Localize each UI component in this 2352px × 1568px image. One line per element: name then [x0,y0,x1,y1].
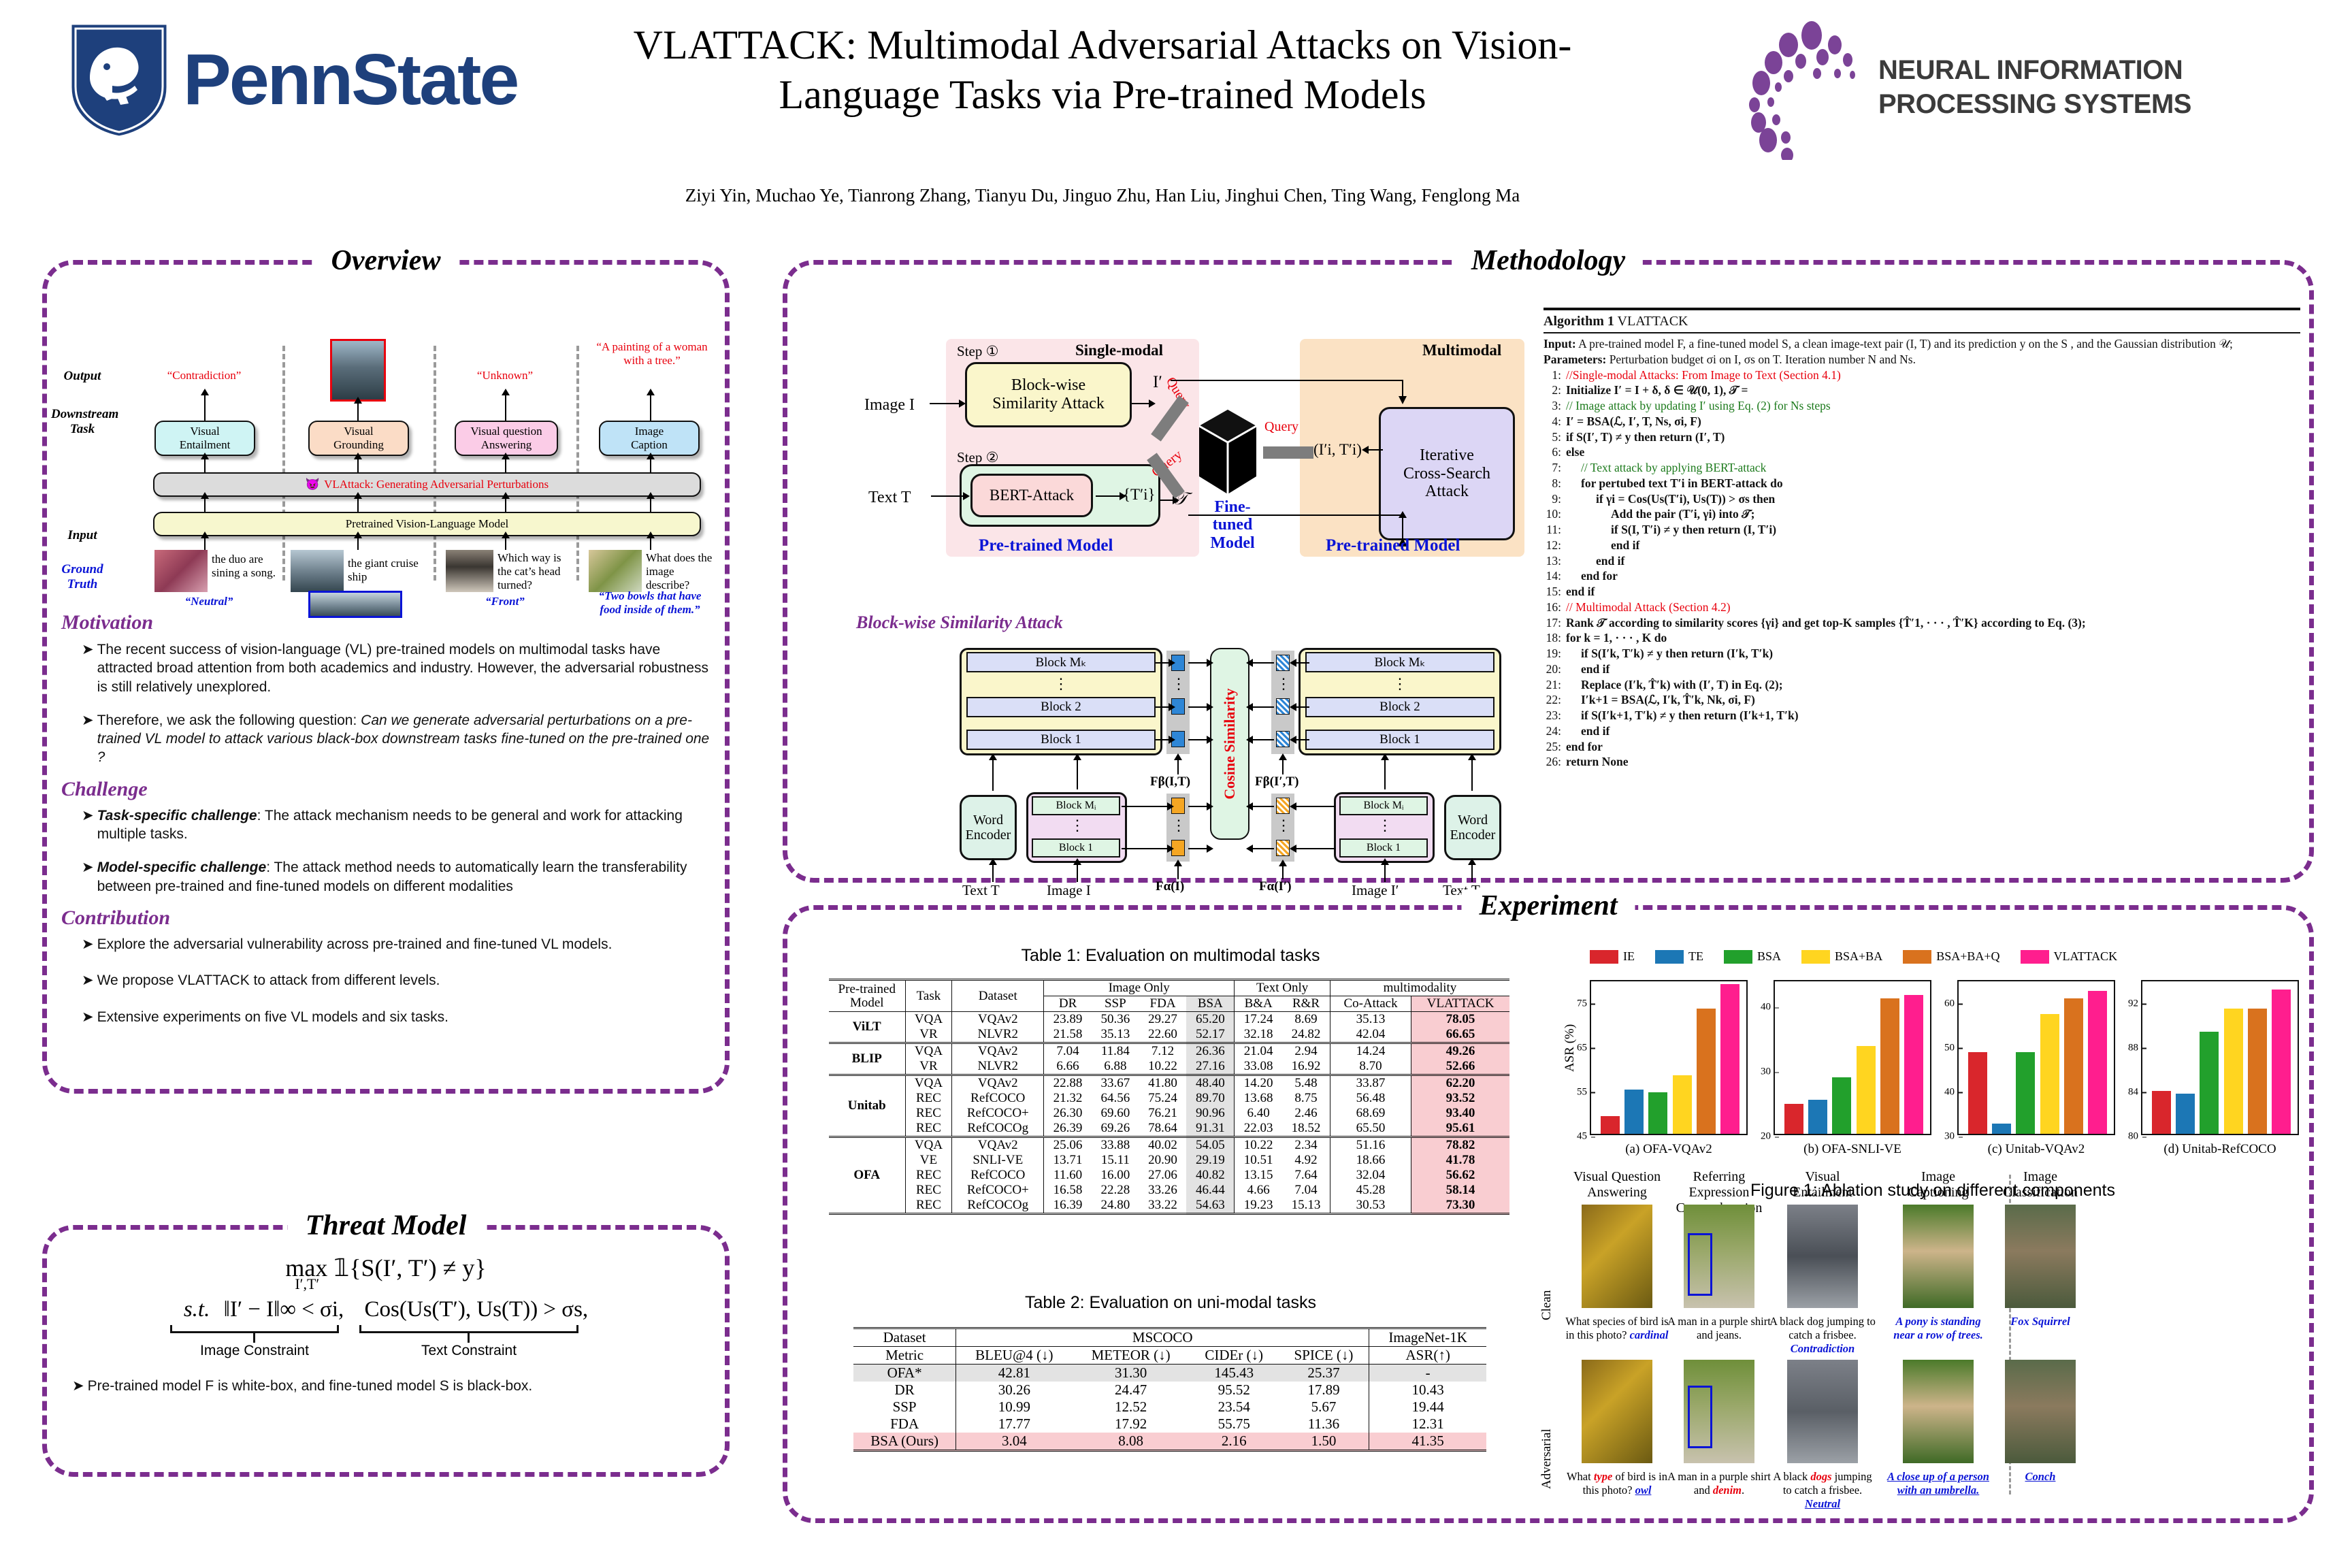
chart-y-tick: 30 [1944,1131,1959,1143]
algorithm-line-text: Initialize I′ = I + δ, δ ∈ 𝒰(0, 1), 𝒯 = [1566,382,1748,398]
vertical-dots: ⋮ [1276,822,1290,829]
bsa-block-mk-right: Block Mₖ [1305,652,1494,672]
table-cell-vlattack: 93.52 [1411,1091,1509,1106]
column-group-header: MSCOCO [956,1328,1369,1347]
overview-arrow [357,498,359,512]
overview-arrow [204,395,206,421]
bsa-arrow [1188,848,1207,849]
bsa-block-mk-left: Block Mₖ [966,652,1156,672]
contribution-heading: Contribution [61,906,715,930]
multimodal-label: Multimodal [1422,342,1501,359]
table-cell-ssp: 15.11 [1092,1153,1139,1168]
table-cell-dr: 26.30 [1044,1106,1092,1121]
table-cell-task: VR [905,1027,952,1043]
chart-bar [1992,1124,2011,1134]
algorithm-line: 5:if S(I′, T) ≠ y then return (I′, T) [1543,429,2300,445]
example-caption-highlight: A pony is standing near a row of trees. [1893,1315,1983,1341]
vertical-dots: ⋮ [1377,822,1391,829]
table-cell-method: SSP [853,1399,956,1416]
table-row: VESNLI-VE13.7115.1120.9029.1910.514.9218… [829,1153,1509,1168]
example-caption-adversarial: A close up of a person with an umbrella. [1885,1470,1991,1497]
table-cell-rr: 2.46 [1282,1106,1330,1121]
word-encoder-right: WordEncoder [1444,795,1501,860]
example-column-heading: ImageCaptioning [1891,1169,1986,1200]
algorithm-line-number: 21: [1543,677,1561,693]
bsa-arrow [1471,759,1473,791]
table-cell-coattack: 56.48 [1330,1091,1411,1106]
table-cell-coattack: 35.13 [1330,1012,1411,1028]
column-header: Co-Attack [1330,996,1411,1012]
column-header: BLEU@4 (↓) [956,1347,1073,1365]
table-cell-task: REC [905,1198,952,1214]
algorithm-line-text: Replace (I′k, T̂′k) with (I′, T) in Eq. … [1566,677,1783,693]
table-row: DatasetMSCOCOImageNet-1K [853,1328,1486,1347]
table-cell-dataset: RefCOCO [952,1091,1044,1106]
table-row: RECRefCOCO11.6016.0027.0640.8213.157.643… [829,1168,1509,1183]
bsa-arrow [992,864,994,882]
chart-bar [1720,984,1739,1134]
bounding-box-adversarial [1688,1386,1712,1448]
table-row [853,1451,1486,1454]
vertical-dots: ⋮ [1171,822,1185,829]
bar-chart: 203040 [1774,980,1931,1135]
example-caption-adversarial: Conch [1987,1470,2093,1484]
bsa-block-1-left: Block 1 [966,730,1156,750]
table-cell-dr: 16.39 [1044,1198,1092,1214]
arrow-bullet-icon: ➤ [82,935,94,953]
table-cell-vlattack: 49.26 [1411,1043,1509,1060]
chart-bar [1904,995,1923,1134]
table-cell-value: 55.75 [1190,1416,1279,1433]
chart-bar [2040,1014,2059,1134]
chart-bar [1784,1104,1803,1134]
column-header: VLATTACK [1411,996,1509,1012]
table-row: RECRefCOCOg26.3969.2678.6491.3122.0318.5… [829,1121,1509,1137]
devil-icon: 😈 [306,478,320,491]
algorithm-line-text: if S(I′, T) ≠ y then return (I′, T) [1566,429,1725,445]
algorithm-title: Algorithm 1 VLATTACK [1543,312,2300,330]
table-cell-rr: 24.82 [1282,1027,1330,1043]
vertical-dots: ⋮ [1053,681,1067,687]
table-cell-coattack: 32.04 [1330,1168,1411,1183]
chart-y-tick: 92 [2128,998,2142,1009]
table-cell-fda: 33.26 [1139,1183,1187,1198]
bsa-arrow [1252,848,1274,849]
table-cell-value: 11.36 [1279,1416,1369,1433]
table-cell-coattack: 51.16 [1330,1137,1411,1154]
bsa-arrow [1384,864,1386,882]
overview-arrow [357,403,359,421]
example-caption-clean: What species of bird is in this photo? c… [1564,1315,1670,1342]
table-row: BSA (Ours)3.048.082.161.5041.35 [853,1433,1486,1451]
table-cell-value: 3.04 [956,1433,1073,1451]
chart-y-tick: 30 [1761,1066,1775,1078]
bsa-arrow [1282,866,1284,879]
overview-pretrained-bar: Pretrained Vision-Language Model [153,512,701,536]
table-cell-dr: 11.60 [1044,1168,1092,1183]
column-header: R&R [1282,996,1330,1012]
bsa-arrow [1296,662,1309,664]
algorithm-line-number: 8: [1543,476,1561,491]
table-row: VRNLVR26.666.8810.2227.1633.0816.928.705… [829,1059,1509,1075]
chart-y-tick: 75 [1577,998,1591,1009]
arrow-bullet-icon: ➤ [82,640,94,696]
table-cell-vlattack: 66.65 [1411,1027,1509,1043]
overview-arrow [650,395,651,421]
bsa-block-2-right: Block 2 [1305,697,1494,717]
bsa-arrow [1252,806,1274,807]
example-caption-text: What [1567,1470,1594,1483]
bsa-block-1-right: Block 1 [1305,730,1494,750]
algorithm-line-number: 20: [1543,661,1561,677]
overview-input-image-2 [446,550,493,592]
algorithm-line-number: 23: [1543,708,1561,723]
table-cell-bsa: 89.70 [1186,1091,1234,1106]
algorithm-line-text: Rank 𝒯 according to similarity scores {γ… [1566,615,2086,631]
algorithm-line-number: 17: [1543,615,1561,631]
example-image-adversarial [2005,1360,2076,1463]
challenge-heading: Challenge [61,778,715,801]
chart-y-tick: 65 [1577,1042,1591,1053]
bsa-arrow [1122,848,1168,849]
algorithm-line-number: 13: [1543,553,1561,569]
algorithm-line-number: 25: [1543,739,1561,755]
methodology-flow-figure: Single-modal Multimodal Step ① Step ② St… [856,320,1530,565]
table-cell-task: REC [905,1121,952,1137]
table-cell-coattack: 65.50 [1330,1121,1411,1137]
neurips-wordmark: NEURAL INFORMATION PROCESSING SYSTEMS [1878,53,2191,121]
algorithm-line-text: for pertubed text T′i in BERT-attack do [1566,476,1783,491]
overview-input-image-0 [154,550,208,592]
table-row: DR30.2624.4795.5217.8910.43 [853,1382,1486,1399]
table-cell-ssp: 16.00 [1092,1168,1139,1183]
column-header: ASR(↑) [1369,1347,1486,1365]
example-caption-text: . [1742,1484,1744,1497]
experiment-panel-title: Experiment [1461,889,1635,922]
flow-arrow [1132,403,1149,404]
column-header: Dataset [853,1328,956,1347]
algorithm-line-number: 16: [1543,600,1561,615]
algorithm-line: 14:end for [1543,568,2300,584]
overview-text-body: Motivation ➤ The recent success of visio… [61,611,715,1026]
algorithm-line-number: 14: [1543,568,1561,584]
algorithm-line-text: end for [1566,568,1618,584]
legend-item: BSA [1724,949,1781,964]
pretrained-model-label-right: Pre-trained Model [1326,536,1460,555]
motivation-bullet-2: ➤ Therefore, we ask the following questi… [82,711,715,767]
feature-square-blue-hatched [1276,655,1290,671]
overview-row-label-downstream: DownstreamTask [51,407,114,437]
chart-bar [1832,1077,1851,1134]
chart-y-tick: 40 [1944,1086,1959,1098]
example-image-clean [1582,1205,1652,1308]
chart-caption: (c) Unitab-VQAv2 [1957,1142,2115,1157]
legend-swatch [1903,950,1931,964]
bsa-arrow [1384,759,1386,789]
chart-y-tick: 40 [1761,1002,1775,1013]
chart-bar [1624,1090,1644,1134]
table-cell-fda: 75.24 [1139,1091,1187,1106]
chart-bar [1601,1116,1620,1134]
example-image-adversarial [1582,1360,1652,1463]
single-modal-label: Single-modal [1075,342,1163,359]
chart-bar [2088,991,2107,1134]
table-cell-rr: 8.69 [1282,1012,1330,1028]
table-cell-task: REC [905,1183,952,1198]
algorithm-line: 22:I′k+1 = BSA(ℒ, I′k, T̂′k, Nk, σi, F) [1543,692,2300,708]
algorithm-line-text: // Multimodal Attack (Section 4.2) [1566,600,1731,615]
table-cell-fda: 29.27 [1139,1012,1187,1028]
table-cell-vlattack: 62.20 [1411,1075,1509,1092]
table-cell-fda: 40.02 [1139,1137,1187,1154]
arrow-bullet-icon: ➤ [82,806,94,844]
arrow-bullet-icon: ➤ [72,1377,84,1395]
column-header: BSA [1186,996,1234,1012]
overview-input-text-1: the giant cruise ship [348,557,420,584]
bsa-arrow [1252,706,1274,708]
table-row: RECRefCOCO21.3264.5675.2489.7013.688.755… [829,1091,1509,1106]
algorithm-line-number: 2: [1543,382,1561,398]
algorithm-line-text: I′k+1 = BSA(ℒ, I′k, T̂′k, Nk, σi, F) [1566,692,1755,708]
legend-item: VLATTACK [2021,949,2118,964]
column-header: METEOR (↓) [1072,1347,1189,1365]
bsa-arrow [1156,706,1169,708]
overview-arrow [505,538,506,550]
table-cell-dr: 26.39 [1044,1121,1092,1137]
overview-output-0: “Contradiction” [153,369,255,382]
table-cell-ba: 21.04 [1235,1043,1282,1060]
bsa-axis-image-left: Image I [1047,882,1091,899]
algorithm-line-text: end for [1566,739,1603,755]
bsa-block-1-bottom-right: Block 1 [1339,838,1428,857]
chart-bar [1648,1092,1667,1134]
algorithm-line-text: // Text attack by applying BERT-attack [1566,460,1766,476]
pretrained-model-label-left: Pre-trained Model [979,536,1113,555]
examples-row-label-clean: Clean [1539,1290,1554,1320]
chart-y-tick: 50 [1944,1042,1959,1053]
example-image-adversarial [1903,1360,1974,1463]
bsa-arrow [1282,759,1284,774]
bsa-axis-text-left: Text T [962,882,1000,899]
overview-column-separator [576,346,579,581]
algorithm-line-number: 22: [1543,692,1561,708]
table-cell-dataset: NLVR2 [952,1059,1044,1075]
table-cell-value: 17.92 [1072,1416,1189,1433]
table-cell-ba: 10.22 [1235,1137,1282,1154]
chart-y-tick: 20 [1761,1131,1775,1143]
bsa-arrow [1252,662,1274,664]
algorithm-line-text: // Image attack by updating I′ using Eq.… [1566,398,1831,414]
page-title: VLATTACK: Multimodal Adversarial Attacks… [599,20,1606,120]
chart-bar [2224,1009,2243,1134]
algorithm-line-number: 9: [1543,491,1561,507]
chart-bar [1808,1100,1827,1134]
table-cell-ba: 10.51 [1235,1153,1282,1168]
table-cell-value: 2.16 [1190,1433,1279,1451]
chart-bar [2176,1094,2195,1134]
column-header: CIDEr (↓) [1190,1347,1279,1365]
table-cell-coattack: 30.53 [1330,1198,1411,1214]
algorithm-rule-top [1543,308,2300,310]
overview-row-label-output: Output [51,369,114,384]
table-cell-ba: 19.23 [1235,1198,1282,1214]
bsa-block-2-left: Block 2 [966,697,1156,717]
column-header: SSP [1092,996,1139,1012]
table-cell-rr: 8.75 [1282,1091,1330,1106]
example-image-adversarial [1787,1360,1858,1463]
table-cell-method: BSA (Ours) [853,1433,956,1451]
overview-output-3: “A painting of a woman with a tree.” [594,340,710,367]
column-header: Dataset [952,980,1044,1012]
legend-label: BSA+BA+Q [1936,949,1999,964]
column-header: SPICE (↓) [1279,1347,1369,1365]
table-cell-vlattack: 56.62 [1411,1168,1509,1183]
word-encoder-left: WordEncoder [960,795,1017,860]
bsa-arrow [1077,864,1078,882]
example-caption-highlight: Conch [2025,1470,2056,1483]
overview-vlattack-bar: 😈 VLAttack: Generating Adversarial Pertu… [153,472,701,497]
example-caption-text: A black dog jumping to catch a frisbee. [1769,1315,1876,1341]
chart-bar [2016,1052,2035,1134]
algorithm-line: 7:// Text attack by applying BERT-attack [1543,460,2300,476]
table-cell-model: BLIP [829,1043,905,1075]
algorithm-line: 12:end if [1543,538,2300,553]
arrow-bullet-icon: ➤ [82,1008,94,1026]
example-caption-highlight: cardinal [1630,1328,1669,1341]
image-input-label: Image I [864,396,915,414]
motivation-bullet-1: ➤ The recent success of vision-language … [82,640,715,696]
table-cell-value: 23.54 [1190,1399,1279,1416]
table-cell-ba: 4.66 [1235,1183,1282,1198]
overview-groundtruth-0: “Neutral” [154,595,263,608]
overview-groundtruth-2: “Front” [454,595,556,608]
table-cell-dataset: RefCOCOg [952,1198,1044,1214]
algorithm-line: 2:Initialize I′ = I + δ, δ ∈ 𝒰(0, 1), 𝒯 … [1543,382,2300,398]
algorithm-line-number: 12: [1543,538,1561,553]
table-cell-dataset: VQAv2 [952,1043,1044,1060]
column-group-header: multimodality [1330,980,1509,996]
penn-state-shield-icon [65,19,174,140]
algorithm-line-text: end if [1566,584,1595,600]
table-cell-value: 17.77 [956,1416,1073,1433]
table-cell-model: ViLT [829,1012,905,1043]
table-cell-dataset: RefCOCO+ [952,1106,1044,1121]
algorithm-line-text: end if [1566,723,1610,739]
challenge-bullet-2: ➤ Model-specific challenge: The attack m… [82,858,715,896]
column-header: Pre-trainedModel [829,980,905,1012]
column-header: B&A [1235,996,1282,1012]
query-label-3: Query [1264,419,1298,435]
legend-label: VLATTACK [2054,949,2118,964]
overview-input-image-1 [291,550,344,592]
chart-bar [1673,1075,1692,1134]
column-group-header: Image Only [1044,980,1235,996]
table-cell-bsa: 54.63 [1186,1198,1234,1214]
table-row: BLIPVQAVQAv27.0411.847.1226.3621.042.941… [829,1043,1509,1060]
bsa-arrow [1188,739,1207,740]
bsa-label-fa-ip: Fα(I′) [1259,879,1292,894]
table-row: MetricBLEU@4 (↓)METEOR (↓)CIDEr (↓)SPICE… [853,1347,1486,1365]
finetuned-model-label: Fine-tunedModel [1195,498,1270,552]
column-header: FDA [1139,996,1187,1012]
chart-y-tick: 80 [2128,1131,2142,1143]
image-constraint-label: Image Constraint [170,1343,339,1359]
algorithm-line-text: for k = 1, · · · , K do [1566,630,1667,646]
overview-output-image-grounding [330,339,386,402]
example-caption-adversarial: A black dogs jumping to catch a frisbee.… [1769,1470,1876,1510]
bsa-arrow [1296,706,1309,708]
example-image-clean [1903,1205,1974,1308]
table-row: RECRefCOCO+16.5822.2833.2646.444.667.044… [829,1183,1509,1198]
algorithm-line-text: end if [1566,553,1624,569]
table-row [829,1214,1509,1217]
finetuned-model-cube-icon [1196,408,1259,504]
table-cell-fda: 76.21 [1139,1106,1187,1121]
legend-swatch [2021,950,2049,964]
chart-bar [1968,1052,1987,1134]
pair-label: (I′i, T′i) [1313,441,1362,459]
table-cell-ba: 14.20 [1235,1075,1282,1092]
table-cell-ssp: 35.13 [1092,1027,1139,1043]
algorithm-line: 9:if γi = Cos(Us(T′i), Us(T)) > σs then [1543,491,2300,507]
bsa-arrow [1188,706,1207,708]
chart-bar [1880,998,1899,1134]
algorithm-line-text: return None [1566,754,1629,770]
bsa-arrow [1188,806,1207,807]
algorithm-input-line: Input: A pre-trained model F, a fine-tun… [1543,336,2300,352]
bsa-arrow [1156,739,1169,740]
table-cell-vlattack: 78.82 [1411,1137,1509,1154]
legend-item: BSA+BA+Q [1903,949,1999,964]
legend-label: BSA [1757,949,1781,964]
algorithm-line: 13:end if [1543,553,2300,569]
example-caption-clean: A man in a purple shirt and jeans. [1666,1315,1772,1342]
algorithm-line-number: 10: [1543,506,1561,522]
bsa-figure: Block-wise Similarity Attack Block Mₖ ⋮ … [856,612,1537,871]
bsa-label-fb-it: Fβ(I,T) [1150,774,1190,789]
table-cell-value: 5.67 [1279,1399,1369,1416]
chart-bar [1857,1046,1876,1134]
feature-square-blue-hatched [1276,731,1290,747]
chart-y-tick: 45 [1577,1131,1591,1143]
table-cell-dr: 23.89 [1044,1012,1092,1028]
contribution-bullet-3: ➤Extensive experiments on five VL models… [82,1008,715,1026]
table-cell-ba: 6.40 [1235,1106,1282,1121]
overview-row-label-input: Input [51,528,114,543]
overview-column-separator [282,346,285,581]
algorithm-line: 8:for pertubed text T′i in BERT-attack d… [1543,476,2300,491]
table-cell-method: OFA* [853,1365,956,1382]
example-caption-clean: A black dog jumping to catch a frisbee. … [1769,1315,1876,1355]
algorithm-line: 4:I′ = BSA(ℒ, I′, T, Ns, σi, F) [1543,414,2300,429]
algorithm-line: 3:// Image attack by updating I′ using E… [1543,398,2300,414]
overview-arrow [357,459,359,472]
overview-panel-title: Overview [314,244,459,277]
table-cell-task: VQA [905,1012,952,1028]
table-row: UnitabVQAVQAv222.8833.6741.8048.4014.205… [829,1075,1509,1092]
table-cell-vlattack: 93.40 [1411,1106,1509,1121]
table-cell-dataset: SNLI-VE [952,1153,1044,1168]
neurips-mark-icon [1708,20,1885,160]
bsa-arrow [1177,759,1179,774]
example-caption-perturbed-word: denim [1713,1484,1742,1497]
algorithm-line: 1://Single-modal Attacks: From Image to … [1543,367,2300,383]
algorithm-line: 23:if S(I′k+1, T′k) ≠ y then return (I′k… [1543,708,2300,723]
algorithm-line-text: if S(I′k, T′k) ≠ y then return (I′k, T′k… [1566,646,1773,661]
example-column-heading: Visual QuestionAnswering [1569,1169,1665,1200]
vertical-dots: ⋮ [1276,681,1290,687]
table-row: VRNLVR221.5835.1322.6052.1732.1824.8242.… [829,1027,1509,1043]
